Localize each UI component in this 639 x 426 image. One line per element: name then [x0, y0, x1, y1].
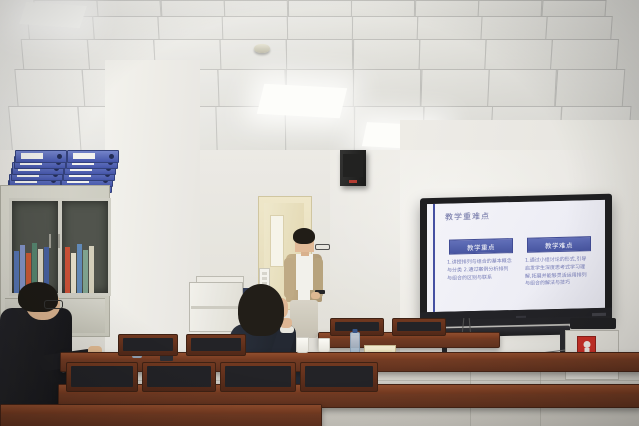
bench-chair-back-r2b	[186, 334, 246, 356]
slide-body-key-points: 1.讲授排列与组合的基本概念与分类 2.通过案例分析排列与组合的区别与联系	[447, 258, 513, 283]
display-screen[interactable]: 教学重难点 教学重点 教学难点 1.讲授排列与组合的基本概念与分类 2.通过案例…	[427, 200, 605, 312]
binder	[67, 150, 119, 163]
slide-body-difficult-points: 1.通过小组讨论的形式,引导启发学生深度思考式学习理解,拓展并能够灵活运用排列与…	[525, 256, 591, 289]
paper-cup-right	[318, 338, 330, 353]
speaker-logo-icon	[349, 180, 357, 183]
presenter-hair	[293, 228, 315, 244]
slide-heading-difficult-points: 教学难点	[527, 236, 591, 253]
av-equipment	[570, 318, 616, 329]
lecture-bench-row-0	[0, 404, 322, 426]
bench-chair-back-r2a	[118, 334, 178, 356]
bench-chair-back-r1c	[220, 362, 296, 392]
bench-chair-back-r1a	[66, 362, 138, 392]
interactive-flat-panel-display[interactable]: 教学重难点 教学重点 教学难点 1.讲授排列与组合的基本概念与分类 2.通过案例…	[420, 194, 612, 325]
smoke-detector-icon	[254, 44, 270, 53]
bench-chair-back-r1b	[142, 362, 216, 392]
glasses-icon	[44, 300, 63, 309]
panel-light-center	[257, 84, 347, 118]
cabinet-handle-right[interactable]	[58, 234, 60, 248]
classroom-scene: 教学重难点 教学重点 教学难点 1.讲授排列与组合的基本概念与分类 2.通过案例…	[0, 0, 639, 426]
binder	[15, 150, 67, 163]
wall-speaker	[340, 150, 366, 186]
panel-light-far-left	[19, 2, 87, 28]
slide-accent-bar	[433, 204, 435, 312]
bench-chair-back-r3b	[392, 318, 446, 336]
cabinet-handle-left[interactable]	[49, 234, 51, 248]
paper-cup-center	[296, 337, 309, 353]
slide-title: 教学重难点	[445, 211, 490, 223]
binder-stack	[6, 148, 110, 188]
observer-center-hair	[238, 284, 284, 336]
glasses-icon	[315, 244, 330, 250]
presentation-slide: 教学重难点 教学重点 教学难点 1.讲授排列与组合的基本概念与分类 2.通过案例…	[427, 200, 605, 312]
slide-heading-key-points: 教学重点	[449, 238, 513, 255]
bench-chair-back-r1d	[300, 362, 378, 392]
